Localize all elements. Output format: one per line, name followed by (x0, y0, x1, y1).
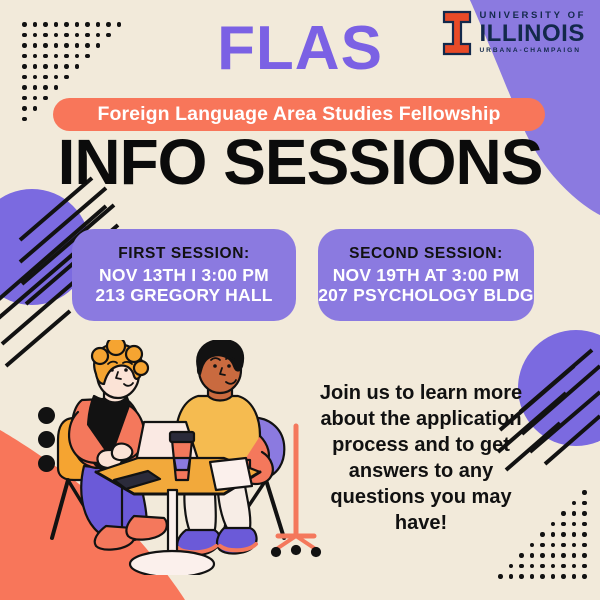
decorative-dot (33, 96, 38, 101)
decorative-dot (22, 106, 27, 111)
session-1-heading: FIRST SESSION: (118, 245, 250, 263)
subtitle-text: Foreign Language Area Studies Fellowship (97, 103, 500, 126)
decorative-dot (582, 501, 587, 506)
session-2-location: 207 PSYCHOLOGY BLDG (318, 285, 533, 305)
decorative-dot (561, 553, 566, 558)
decorative-dot (551, 543, 556, 548)
session-2-heading: SECOND SESSION: (349, 245, 503, 263)
decorative-dot (519, 553, 524, 558)
logo-line-urbana-champaign: URBANA-CHAMPAIGN (480, 48, 586, 55)
decorative-dot (540, 553, 545, 558)
decorative-dot (561, 574, 566, 579)
decorative-dot (582, 511, 587, 516)
decorative-dot (530, 564, 535, 569)
decorative-dot (43, 85, 48, 90)
call-to-action-text: Join us to learn more about the applicat… (305, 380, 537, 536)
decorative-dot (530, 574, 535, 579)
session-card-second: SECOND SESSION: NOV 19TH AT 3:00 PM 207 … (318, 229, 534, 321)
decorative-dot (572, 511, 577, 516)
decorative-dot (572, 522, 577, 527)
decorative-dot (572, 553, 577, 558)
decorative-dot (551, 574, 556, 579)
decorative-dot (582, 553, 587, 558)
decorative-dot (519, 574, 524, 579)
session-1-datetime: NOV 13TH I 3:00 PM (99, 265, 269, 285)
decorative-dot (572, 543, 577, 548)
poster-canvas: FLAS UNIVERSITY OF ILLINOIS URBANA-CHAMP… (0, 0, 600, 600)
decorative-dot (540, 564, 545, 569)
decorative-dot (582, 564, 587, 569)
paper-sheet (210, 458, 252, 490)
decorative-dot (551, 522, 556, 527)
illinois-block-i-icon (442, 10, 472, 56)
decorative-dot (43, 96, 48, 101)
session-card-first: FIRST SESSION: NOV 13TH I 3:00 PM 213 GR… (72, 229, 296, 321)
decorative-dot (582, 490, 587, 495)
decorative-dot (498, 574, 503, 579)
decorative-dot (551, 532, 556, 537)
decorative-dot (530, 553, 535, 558)
decorative-dot (561, 522, 566, 527)
decorative-dot (561, 543, 566, 548)
session-1-location: 213 GREGORY HALL (95, 285, 272, 305)
decorative-dot (572, 574, 577, 579)
illustration-two-people-at-table (38, 340, 328, 575)
decorative-dot (22, 96, 27, 101)
decorative-dot (551, 553, 556, 558)
decorative-dot (572, 501, 577, 506)
decorative-dot (572, 564, 577, 569)
session-2-datetime: NOV 19TH AT 3:00 PM (333, 265, 520, 285)
decorative-dot (561, 564, 566, 569)
decorative-dot (22, 117, 27, 122)
decorative-dot (582, 532, 587, 537)
university-of-illinois-logo: UNIVERSITY OF ILLINOIS URBANA-CHAMPAIGN (442, 10, 586, 56)
headline: INFO SESSIONS (0, 130, 600, 194)
decorative-dot (22, 85, 27, 90)
decorative-dot (540, 532, 545, 537)
decorative-dot (540, 543, 545, 548)
decorative-dot (519, 564, 524, 569)
decorative-dot (509, 574, 514, 579)
decorative-dot (572, 532, 577, 537)
decorative-dot (54, 85, 59, 90)
decorative-dot (509, 564, 514, 569)
decorative-dot (561, 532, 566, 537)
logo-line-illinois: ILLINOIS (480, 22, 586, 46)
decorative-dot (33, 106, 38, 111)
decorative-dot (582, 522, 587, 527)
decorative-dot (582, 574, 587, 579)
decorative-dot (582, 543, 587, 548)
decorative-dot (540, 574, 545, 579)
decorative-dot (561, 511, 566, 516)
decorative-dot (551, 564, 556, 569)
decorative-dot (530, 543, 535, 548)
decorative-dot (33, 85, 38, 90)
